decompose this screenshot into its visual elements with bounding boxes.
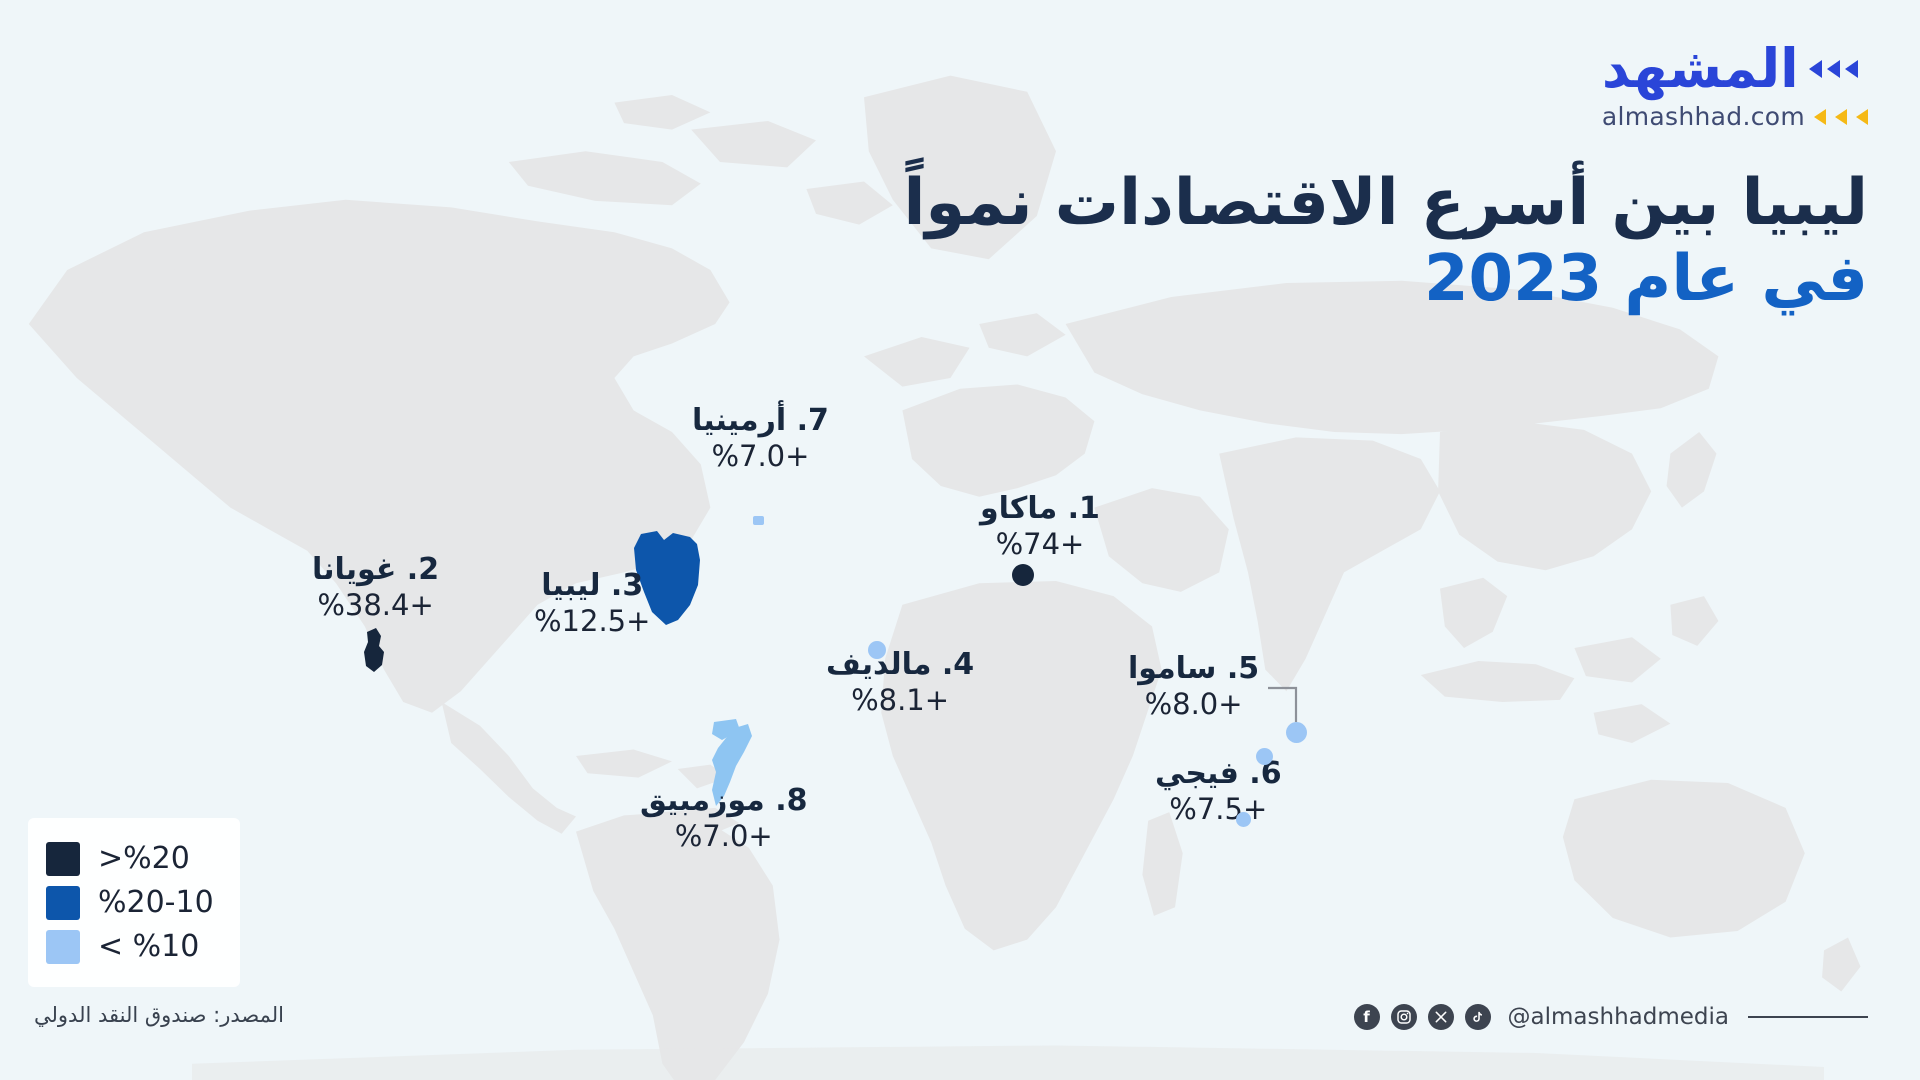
callout-macau: 1. ماكاو %74+	[980, 492, 1100, 561]
callout-value: %7.5+	[1155, 792, 1282, 827]
callout-name: 3. ليبيا	[534, 569, 650, 604]
callout-value: %74+	[980, 527, 1100, 562]
callout-value: %7.0+	[640, 819, 807, 854]
instagram-icon[interactable]	[1391, 1004, 1417, 1030]
legend-label: < %10	[98, 929, 199, 964]
infographic-canvas: المشهد almashhad.com ليبيا بين أسرع الاق…	[0, 0, 1920, 1080]
triangle-icon	[1856, 109, 1868, 125]
marker-dot-macau	[1012, 564, 1034, 586]
social-bar: f @almashhadmedia	[1354, 1004, 1868, 1030]
callout-name: 5. ساموا	[1128, 652, 1259, 687]
triangle-icon	[1814, 109, 1826, 125]
callout-name: 8. موزمبيق	[640, 784, 807, 819]
tiktok-icon[interactable]	[1465, 1004, 1491, 1030]
x-twitter-icon[interactable]	[1428, 1004, 1454, 1030]
footer-rule	[1748, 1016, 1868, 1018]
callout-guyana: 2. غويانا %38.4+	[312, 553, 439, 622]
triangle-icon	[1835, 109, 1847, 125]
logo-triangles-blue	[1809, 60, 1858, 78]
headline-line-2: في عام 2023	[903, 244, 1868, 316]
source-note: المصدر: صندوق النقد الدولي	[34, 1003, 284, 1027]
legend-label: >%20	[98, 841, 190, 876]
samoa-leader-line	[0, 0, 1920, 1080]
callout-value: %12.5+	[534, 604, 650, 639]
logo-mark: المشهد	[1602, 42, 1868, 96]
logo-website-url: almashhad.com	[1602, 102, 1805, 131]
legend-item-above-20: >%20	[46, 841, 214, 876]
legend-swatch-navy	[46, 842, 80, 876]
marker-dot-fiji-secondary	[1236, 812, 1251, 827]
callout-armenia: 7. أرمينيا %7.0+	[692, 404, 829, 473]
callout-samoa: 5. ساموا %8.0+	[1128, 652, 1259, 721]
triangle-icon	[1845, 60, 1858, 78]
page-title: ليبيا بين أسرع الاقتصادات نمواً في عام 2…	[903, 168, 1868, 315]
triangle-icon	[1827, 60, 1840, 78]
callout-libya: 3. ليبيا %12.5+	[534, 569, 650, 638]
legend-swatch-blue	[46, 886, 80, 920]
legend-item-10-to-20: %20-10	[46, 885, 214, 920]
legend: >%20 %20-10 < %10	[28, 818, 240, 987]
callout-value: %38.4+	[312, 588, 439, 623]
callout-name: 1. ماكاو	[980, 492, 1100, 527]
legend-item-below-10: < %10	[46, 929, 214, 964]
callout-value: %8.1+	[826, 683, 974, 718]
callout-value: %8.0+	[1128, 687, 1259, 722]
facebook-icon[interactable]: f	[1354, 1004, 1380, 1030]
callout-name: 4. مالديف	[826, 648, 974, 683]
marker-dot-maldives	[868, 641, 886, 659]
brand-logo[interactable]: المشهد almashhad.com	[1602, 42, 1868, 131]
social-handle: @almashhadmedia	[1508, 1004, 1729, 1030]
logo-wordmark: المشهد	[1602, 42, 1799, 96]
callout-maldives: 4. مالديف %8.1+	[826, 648, 974, 717]
callout-name: 2. غويانا	[312, 553, 439, 588]
legend-label: %20-10	[98, 885, 214, 920]
callout-name: 7. أرمينيا	[692, 404, 829, 439]
callout-value: %7.0+	[692, 439, 829, 474]
logo-subline: almashhad.com	[1602, 102, 1868, 131]
legend-swatch-light-blue	[46, 930, 80, 964]
marker-dot-fiji	[1256, 748, 1273, 765]
callout-fiji: 6. فيجي %7.5+	[1155, 757, 1282, 826]
headline-line-1: ليبيا بين أسرع الاقتصادات نمواً	[903, 168, 1868, 240]
triangle-icon	[1809, 60, 1822, 78]
callout-mozambique: 8. موزمبيق %7.0+	[640, 784, 807, 853]
marker-dot-samoa	[1286, 722, 1307, 743]
